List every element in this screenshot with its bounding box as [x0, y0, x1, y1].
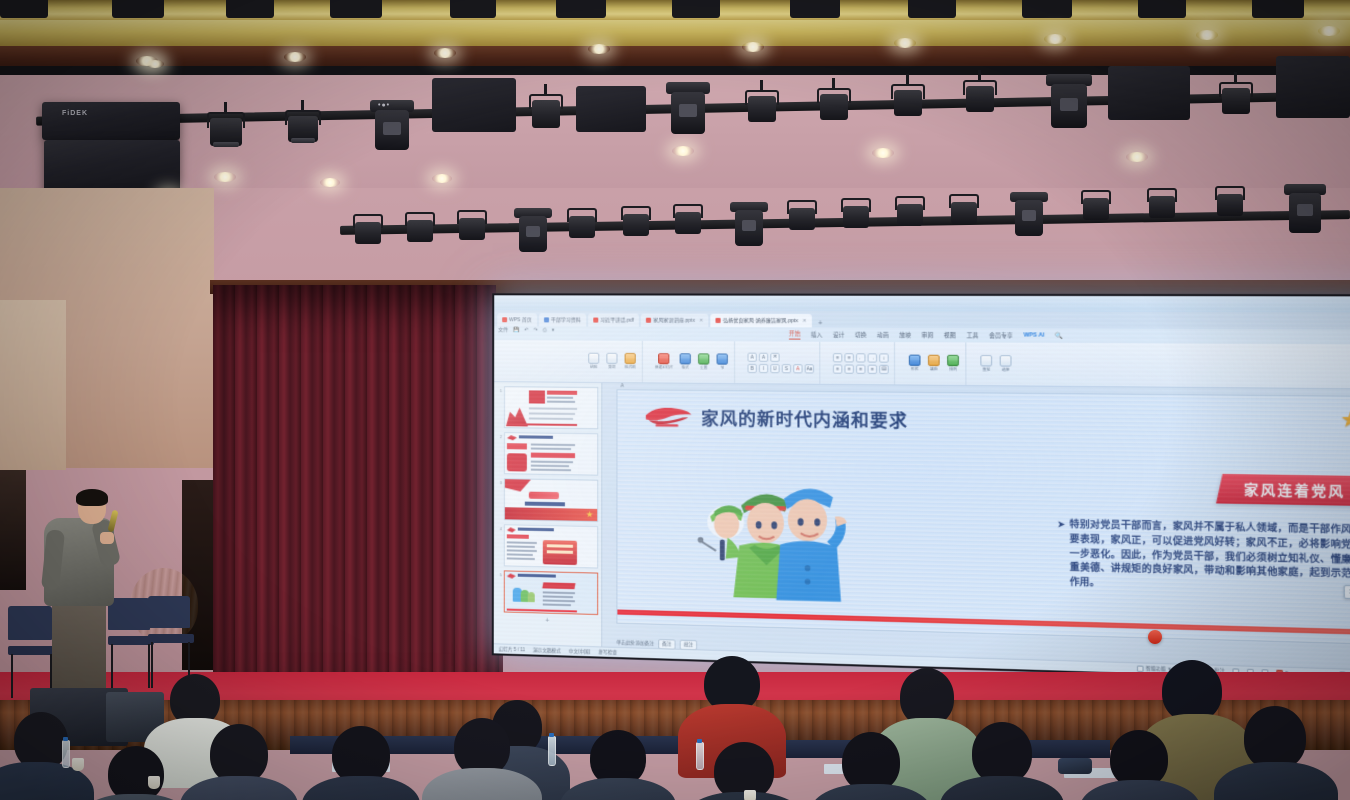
ceiling-downlight [284, 52, 306, 62]
slide-thumbnail-selected[interactable]: 5 [497, 570, 598, 615]
ceiling-downlight [146, 60, 164, 68]
new-tab-button[interactable]: + [814, 320, 827, 327]
slide-title: 家风的新时代内涵和要求 [701, 404, 908, 432]
thumbnail-number: 1 [497, 386, 502, 393]
ribbon-group-editing: 查找 选择 [974, 343, 1018, 386]
ribbon-label: 新建幻灯片 [655, 365, 673, 370]
ribbon-label: 形状 [911, 367, 919, 372]
notes-placeholder[interactable]: 单击此处添加备注 [616, 640, 653, 647]
tab-document-1[interactable]: 干部学习资料 [539, 313, 586, 326]
tab-label: 习近平讲话.pdf [600, 317, 634, 324]
thumbnail-image [504, 478, 598, 522]
ceiling-downlight [872, 148, 894, 158]
save-icon[interactable]: 💾 [513, 327, 519, 333]
conference-hall-photo: •●• [0, 0, 1350, 800]
italic-icon[interactable]: I [759, 363, 768, 372]
wps-home-icon [502, 317, 507, 322]
slide-body-text: ➤ 特别对党员干部而言，家风并不属于私人领域，而是干部作风的重要表现，家风正，可… [1070, 518, 1350, 598]
tab-label: 弘扬优良家风·涵养廉洁家风.pptx [723, 317, 798, 324]
ppt-icon [716, 318, 721, 323]
line-array-speaker [44, 140, 180, 192]
align-center-icon[interactable]: ≡ [844, 364, 853, 373]
thumbnail-number: 4 [497, 524, 502, 531]
shapes-icon [909, 355, 921, 366]
paper-cup [72, 758, 84, 771]
arrange-icon [947, 355, 959, 366]
ribbon-tab-tools[interactable]: 工具 [966, 331, 978, 339]
ceiling-dark-band [0, 46, 1350, 68]
line-spacing-icon[interactable]: ↕ [879, 353, 889, 362]
bottle-cap-icon [697, 739, 702, 743]
ribbon-tab-home[interactable]: 开始 [789, 329, 800, 339]
reset-button[interactable]: 重置 [697, 353, 710, 370]
paste-icon [588, 353, 599, 364]
water-bottle [548, 736, 556, 766]
ribbon-group-clipboard: 粘贴 剪切 格式刷 [582, 341, 643, 383]
tab-document-2[interactable]: 习近平讲话.pdf [588, 313, 639, 326]
thumbnail-image [504, 570, 598, 615]
ceiling-panel [556, 0, 606, 18]
ribbon-tab-transitions[interactable]: 切换 [855, 331, 867, 339]
presenter-hand [100, 532, 114, 544]
new-slide-button[interactable]: 新建幻灯片 [655, 353, 673, 370]
ribbon-label: 剪切 [608, 365, 615, 370]
line-array-speaker [42, 102, 180, 140]
ceiling-panel [1138, 0, 1186, 18]
ceiling-downlight [320, 178, 340, 187]
font-color-icon[interactable]: A [793, 364, 802, 373]
projection-screen: – ❐ □ ● ✕ WPS 首页 干部学习资料 习近平讲话.pdf [492, 293, 1350, 683]
cut-button[interactable]: 剪切 [605, 353, 618, 370]
ceiling-panel [790, 0, 840, 18]
ceiling-downlight [1318, 26, 1340, 36]
ribbon-tab-animations[interactable]: 动画 [877, 331, 889, 339]
ceiling-downlight [588, 44, 610, 54]
select-icon [1000, 355, 1012, 367]
ceiling-speaker [432, 78, 516, 132]
section-icon [717, 353, 728, 364]
ceiling-downlight [672, 146, 694, 156]
ribbon-label: 格式刷 [625, 365, 636, 370]
current-slide[interactable]: 家风的新时代内涵和要求 ★ 家风连着党风 ➤ 特别对党员干部而言，家风并不属于私… [616, 389, 1350, 645]
slide-banner: 家风连着党风 [1216, 474, 1350, 506]
ceiling-panel [1022, 0, 1072, 18]
thumbnail-number: 5 [497, 570, 502, 577]
tab-label: 家风家训讲座.pptx [653, 317, 695, 324]
stage-side-opening [0, 470, 26, 590]
status-language[interactable]: 中文(中国) [569, 649, 591, 656]
presenter-hair [76, 489, 108, 506]
tab-label: 干部学习资料 [551, 316, 581, 323]
ceiling-downlight [894, 38, 916, 48]
thumbnail-image [504, 386, 598, 429]
chevron-down-icon[interactable]: ▾ [552, 327, 555, 333]
bullets-icon[interactable]: ≡ [833, 353, 842, 362]
wall-side-panel [0, 300, 66, 470]
qat-file[interactable]: 文件 [498, 326, 508, 333]
ribbon-label: 节 [720, 366, 724, 371]
ribbon-tab-insert[interactable]: 插入 [811, 330, 823, 338]
layout-button[interactable]: 版式 [679, 353, 692, 370]
paper-cup [148, 776, 160, 789]
find-button[interactable]: 查找 [979, 355, 993, 373]
ribbon-group-slides: 新建幻灯片 版式 重置 节 [650, 341, 735, 383]
bottle-cap-icon [63, 737, 68, 741]
gold-star-icon: ★ [1340, 409, 1350, 431]
align-right-icon[interactable]: ≡ [856, 364, 865, 373]
reset-icon [698, 353, 709, 364]
status-spellcheck[interactable]: 拼写检查 [598, 649, 617, 656]
slide-accent-bar [617, 609, 1350, 635]
numbering-icon[interactable]: ≡ [844, 353, 853, 362]
increase-indent-icon[interactable]: → [868, 353, 878, 362]
ceiling-panel [1252, 0, 1304, 18]
ribbon-label: 选择 [1002, 368, 1010, 373]
ceiling-panel [0, 0, 48, 18]
notes-button[interactable]: 备注 [658, 639, 676, 650]
thumbnail-number: 2 [497, 432, 502, 439]
device-on-desk [1058, 758, 1092, 774]
columns-icon[interactable]: ▤ [879, 364, 889, 373]
find-icon [980, 355, 992, 366]
decrease-indent-icon[interactable]: ← [856, 353, 865, 362]
format-painter-button[interactable]: 格式刷 [624, 353, 637, 370]
three-saluting-figures-icon [691, 466, 847, 604]
mover-brand-label: •●• [378, 102, 390, 109]
new-slide-icon [659, 353, 670, 364]
ribbon-label: 查找 [982, 367, 990, 372]
ribbon-label: 排列 [949, 367, 957, 372]
status-mode[interactable]: 演示文稿模式 [533, 647, 561, 654]
ribbon-label: 粘贴 [590, 365, 597, 370]
status-slide-count: 幻灯片 5 / 11 [499, 646, 525, 653]
ceiling-panel [226, 0, 274, 18]
ceiling-panel [330, 0, 382, 18]
stage-curtain [213, 285, 503, 680]
ribbon-tab-slideshow[interactable]: 放映 [899, 331, 911, 339]
quick-access-toolbar: 文件 💾 ↶ ↷ ⎙ ▾ [498, 326, 554, 333]
redo-icon[interactable]: ↷ [533, 327, 537, 333]
slide-thumbnail[interactable]: 1 [497, 386, 598, 429]
ceiling-downlight [742, 42, 764, 52]
ribbon-tab-review[interactable]: 审阅 [922, 331, 934, 339]
undo-icon[interactable]: ↶ [524, 327, 528, 333]
ceiling-panel [672, 0, 720, 18]
wps-ai-button[interactable]: WPS AI [1023, 332, 1044, 338]
slide-body-paragraph: 特别对党员干部而言，家风并不属于私人领域，而是干部作风的重要表现，家风正，可以促… [1070, 519, 1350, 588]
shapes-button[interactable]: 形状 [908, 355, 922, 373]
water-bottle [62, 740, 70, 768]
ceiling-downlight [432, 174, 452, 183]
section-button[interactable]: 节 [715, 353, 728, 370]
fill-button[interactable]: 填充 [927, 355, 941, 373]
ceiling-downlight [1196, 30, 1218, 40]
clear-format-icon[interactable]: ✕ [770, 352, 779, 361]
close-icon[interactable]: ✕ [802, 318, 806, 324]
ceiling-downlight [1126, 152, 1148, 162]
thumbnail-image [504, 432, 598, 476]
paper-cup [744, 790, 756, 800]
ribbon-group-paragraph: ≡ ≡ ← → ↕ ≡ ≡ ≡ ≡ ▤ [828, 342, 895, 385]
strikethrough-icon[interactable]: S [782, 364, 791, 373]
tab-wps-home[interactable]: WPS 首页 [497, 313, 537, 326]
align-left-icon[interactable]: ≡ [833, 364, 842, 373]
ppt-icon [646, 318, 651, 323]
ribbon-label: 版式 [682, 365, 689, 370]
fill-icon [928, 355, 940, 366]
cut-icon [606, 353, 617, 364]
ribbon-tab-member[interactable]: 会员专享 [989, 331, 1013, 339]
paste-button[interactable]: 粘贴 [587, 353, 600, 370]
pdf-icon [593, 318, 598, 323]
slide-thumbnail[interactable]: 4 [497, 524, 598, 568]
slide-editor-area[interactable]: A 家风的新时代内涵和要求 ★ 家风连着党风 ➤ [602, 383, 1350, 670]
search-icon[interactable]: 🔍 [1055, 332, 1063, 339]
close-icon[interactable]: ✕ [699, 317, 703, 323]
ceiling-speaker [1276, 56, 1350, 118]
thumbnail-image [504, 524, 598, 568]
text-highlight-icon[interactable]: Aa [805, 364, 814, 373]
add-slide-button[interactable]: + [497, 616, 598, 626]
ribbon-group-drawing: 形状 填充 排列 [902, 342, 966, 385]
wps-workspace: 1 2 [494, 382, 1350, 670]
slide-thumbnail[interactable]: 3 [497, 478, 598, 522]
ribbon-tab-view[interactable]: 视图 [944, 331, 956, 339]
ceiling-downlight [434, 48, 456, 58]
speaker-brand-label: FiDEK [62, 110, 88, 117]
slide-thumbnail-pane[interactable]: 1 2 [494, 382, 603, 646]
ceiling-panel [908, 0, 956, 18]
ime-candidate-popup[interactable]: 1 中 ♪ ， 简 [1343, 585, 1350, 600]
select-button[interactable]: 选择 [999, 355, 1013, 373]
slide-thumbnail[interactable]: 2 [497, 432, 598, 476]
water-bottle [696, 742, 704, 770]
layout-icon [680, 353, 691, 364]
slide-banner-text: 家风连着党风 [1244, 478, 1346, 500]
ribbon-label: 填充 [930, 367, 938, 372]
ceiling-gold-band [0, 20, 1350, 46]
ceiling-speaker [1108, 66, 1190, 120]
ribbon-group-font: A A ✕ B I U S A Aa [742, 341, 820, 383]
justify-icon[interactable]: ≡ [868, 364, 878, 373]
arrange-button[interactable]: 排列 [946, 355, 960, 373]
thumbnail-number: 3 [497, 478, 502, 485]
tab-document-active[interactable]: 弘扬优良家风·涵养廉洁家风.pptx ✕ [711, 314, 812, 328]
presenter-legs [52, 600, 106, 692]
underline-icon[interactable]: U [770, 363, 779, 372]
ribbon-label: 重置 [700, 366, 707, 371]
tab-document-3[interactable]: 家风家训讲座.pptx ✕ [641, 314, 709, 327]
bold-icon[interactable]: B [747, 363, 756, 372]
red-flag-ribbon-icon [644, 405, 693, 430]
ceiling-panel [450, 0, 496, 18]
notification-badge-icon[interactable] [1148, 630, 1162, 644]
ceiling-panel [112, 0, 164, 18]
ribbon-tab-design[interactable]: 设计 [833, 331, 845, 339]
ceiling-downlight [1044, 34, 1066, 44]
ceiling-speaker [576, 86, 646, 132]
font-size-increase[interactable]: A [759, 352, 768, 361]
print-icon[interactable]: ⎙ [543, 327, 547, 333]
doc-icon [544, 317, 549, 322]
bottle-cap-icon [549, 733, 554, 737]
ceiling-downlight [214, 172, 236, 182]
font-size-decrease[interactable]: A [747, 352, 756, 361]
bullet-marker-icon: ➤ [1058, 519, 1065, 532]
comments-button[interactable]: 批注 [680, 640, 698, 651]
tab-label: WPS 首页 [509, 316, 532, 323]
format-painter-icon [625, 353, 636, 364]
